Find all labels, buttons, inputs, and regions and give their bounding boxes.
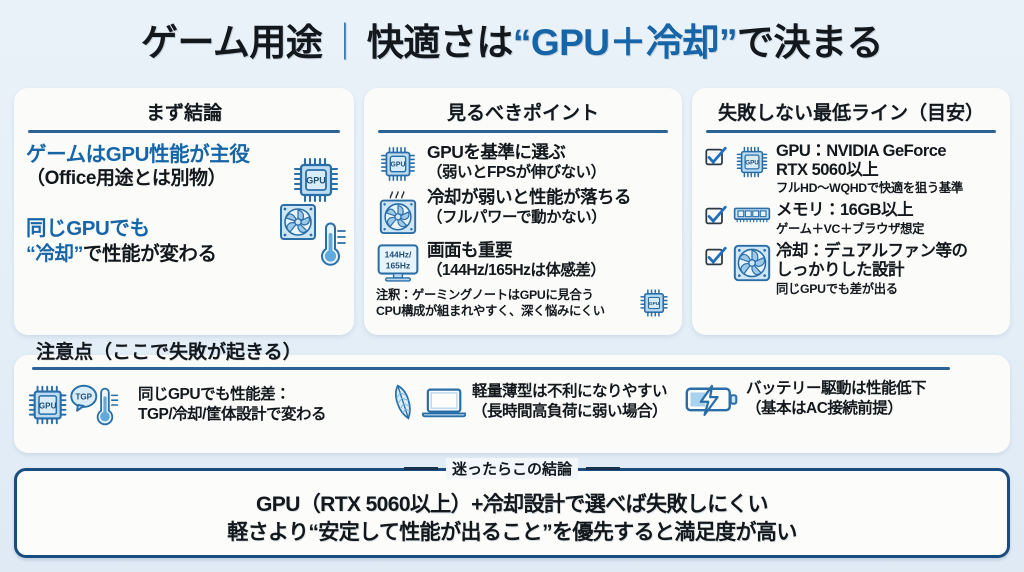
card1-line-2: （Office用途とは別物） — [26, 167, 278, 191]
monitor-label-line2: 165Hz — [386, 260, 410, 270]
divider — [706, 130, 996, 133]
card2-note-line-2: CPU構成が組まれやすく、深く悩みにくい — [376, 303, 630, 319]
key-point-sub: （弱いとFPSが伸びない） — [427, 163, 670, 182]
gpu-chip-icon: GPU — [638, 287, 670, 319]
conclusion-body: GPU（RTX 5060以上）+冷却設計で選べば失敗しにくい 軽さより“安定して… — [17, 491, 1007, 547]
key-point-main: 冷却が弱いと性能が落ちる — [427, 187, 670, 208]
caution-line-2: （基本はAC接続前提） — [746, 399, 926, 419]
page-title: ゲーム用途｜快適さは“GPU＋冷却”で決まる — [0, 12, 1024, 66]
card-conclusion-block-2: 同じGPUでも “冷却”で性能が変わる — [26, 216, 342, 266]
key-point-row: 144Hz/ 165Hz 画面も重要 （144Hz/165Hzは体感差） — [376, 240, 670, 284]
monitor-label-line1: 144Hz/ — [385, 249, 412, 259]
card1-line-4: “冷却”で性能が変わる — [26, 242, 278, 266]
monitor-refresh-icon: 144Hz/ 165Hz — [376, 240, 420, 284]
feather-laptop-icon — [384, 379, 466, 425]
caution-item: バッテリー駆動は性能低下 （基本はAC接続前提） — [684, 379, 984, 419]
requirement-text: メモリ：16GB以上 ゲーム＋VC＋ブラウザ想定 — [776, 201, 998, 237]
title-quote-open: “ — [513, 22, 531, 63]
requirement-row: 冷却：デュアルファン等の しっかりした設計 同じGPUでも差が出る — [704, 242, 998, 298]
requirement-main-1: 冷却：デュアルファン等の — [776, 242, 998, 261]
tab-dash-right — [586, 467, 620, 470]
infographic-root: ゲーム用途｜快適さは“GPU＋冷却”で決まる まず結論 ゲームはGPU性能が主役… — [0, 0, 1024, 572]
gpu-chip-icon: GPU — [376, 142, 420, 184]
card1-line4-quote-close: ” — [74, 243, 83, 265]
key-point-main: GPUを基準に選ぶ — [427, 142, 670, 163]
key-point-main: 画面も重要 — [427, 240, 670, 261]
caution-line-1: バッテリー駆動は性能低下 — [746, 379, 926, 399]
divider — [28, 130, 340, 133]
cards-row: まず結論 ゲームはGPU性能が主役 （Office用途とは別物） — [14, 88, 1010, 335]
conclusion-line-2: 軽さより“安定して性能が出ること”を優先すると満足度が高い — [17, 519, 1007, 547]
title-segment-1: ゲーム用途 — [141, 22, 322, 63]
card1-line4-quote-open: “ — [26, 243, 35, 265]
svg-text:GPU: GPU — [391, 161, 406, 168]
title-quote-close: ” — [719, 22, 737, 63]
requirement-sub: 同じGPUでも差が出る — [776, 282, 998, 298]
caution-item: 軽量薄型は不利になりやすい （長時間高負荷に弱い場合） — [384, 379, 684, 425]
conclusion-tab-label: 迷ったらこの結論 — [446, 458, 578, 479]
requirement-main-2: しっかりした設計 — [776, 261, 998, 280]
conclusion-line-1: GPU（RTX 5060以上）+冷却設計で選べば失敗しにくい — [17, 491, 1007, 519]
ram-stick-icon — [733, 201, 771, 227]
conclusion-tab: 迷ったらこの結論 — [17, 458, 1007, 479]
title-segment-2: 快適さは — [367, 22, 513, 63]
caution-item: GPU TGP 同じGPUでも性能差： TGP/冷却/筐体設計で変わる — [24, 379, 384, 431]
svg-text:GPU: GPU — [649, 301, 660, 307]
checked-checkbox-icon[interactable] — [704, 242, 728, 269]
caution-items: GPU TGP 同じGPUでも性能差： TGP/冷却/筐体設計で変わる — [24, 379, 1000, 431]
final-conclusion-box: 迷ったらこの結論 GPU（RTX 5060以上）+冷却設計で選べば失敗しにくい … — [14, 468, 1010, 558]
key-point-sub: （144Hz/165Hzは体感差） — [427, 261, 670, 280]
requirement-sub: ゲーム＋VC＋ブラウザ想定 — [776, 222, 998, 238]
title-segment-3: で決まる — [737, 22, 883, 63]
caution-item-text: バッテリー駆動は性能低下 （基本はAC接続前提） — [746, 379, 926, 419]
key-point-row: GPU GPUを基準に選ぶ （弱いとFPSが伸びない） — [376, 142, 670, 184]
card-minimum-line: 失敗しない最低ライン（目安） — [692, 88, 1010, 335]
key-point-text: 冷却が弱いと性能が落ちる （フルパワーで動かない） — [427, 187, 670, 227]
battery-charging-icon — [684, 380, 740, 418]
svg-text:GPU: GPU — [745, 159, 759, 166]
gpu-tgp-thermometer-icon: GPU TGP — [24, 379, 132, 431]
tab-dash-left — [404, 467, 438, 470]
svg-text:TGP: TGP — [75, 393, 92, 402]
card-minimum-line-heading: 失敗しない最低ライン（目安） — [704, 96, 998, 130]
caution-heading: 注意点（ここで失敗が起きる） — [36, 337, 302, 364]
card1-line-1: ゲームはGPU性能が主役 — [26, 142, 278, 167]
caution-line-1: 軽量薄型は不利になりやすい — [472, 382, 667, 402]
requirement-main-1: GPU：NVIDIA GeForce — [776, 142, 998, 161]
requirement-main-1: メモリ：16GB以上 — [776, 201, 998, 220]
divider — [32, 367, 950, 370]
card-conclusion-heading: まず結論 — [26, 96, 342, 130]
checked-checkbox-icon[interactable] — [704, 201, 728, 228]
title-divider: ｜ — [322, 22, 367, 63]
divider — [378, 130, 668, 133]
card2-note-line-1: 注釈：ゲーミングノートはGPUに見合う — [376, 287, 630, 303]
key-point-row: 冷却が弱いと性能が落ちる （フルパワーで動かない） — [376, 187, 670, 237]
caution-line-1: 同じGPUでも性能差： — [138, 385, 326, 405]
card-conclusion: まず結論 ゲームはGPU性能が主役 （Office用途とは別物） — [14, 88, 354, 335]
requirement-text: 冷却：デュアルファン等の しっかりした設計 同じGPUでも差が出る — [776, 242, 998, 298]
caution-section: 注意点（ここで失敗が起きる） GPU — [14, 355, 1010, 453]
card1-line4-rest: で性能が変わる — [83, 243, 217, 265]
thermometer-icon — [314, 220, 348, 268]
title-accent: GPU＋冷却 — [531, 22, 719, 63]
checked-checkbox-icon[interactable] — [704, 142, 728, 169]
card-conclusion-block-1: ゲームはGPU性能が主役 （Office用途とは別物） GPU — [26, 142, 342, 191]
gpu-chip-icon: GPU — [290, 154, 342, 206]
caution-item-text: 軽量薄型は不利になりやすい （長時間高負荷に弱い場合） — [472, 382, 667, 422]
card-key-points-heading: 見るべきポイント — [376, 96, 670, 130]
svg-text:GPU: GPU — [306, 175, 326, 185]
requirement-text: GPU：NVIDIA GeForce RTX 5060以上 フルHD〜WQHDで… — [776, 142, 998, 198]
card1-line-3: 同じGPUでも — [26, 216, 278, 242]
fan-icon — [278, 202, 318, 242]
caution-line-2: （長時間高負荷に弱い場合） — [472, 402, 667, 422]
card1-line4-accent: 冷却 — [35, 243, 73, 265]
key-point-text: GPUを基準に選ぶ （弱いとFPSが伸びない） — [427, 142, 670, 182]
case-fan-icon — [733, 242, 771, 282]
caution-item-text: 同じGPUでも性能差： TGP/冷却/筐体設計で変わる — [138, 385, 326, 425]
key-point-text: 画面も重要 （144Hz/165Hzは体感差） — [427, 240, 670, 280]
key-point-sub: （フルパワーで動かない） — [427, 208, 670, 227]
requirement-row: メモリ：16GB以上 ゲーム＋VC＋ブラウザ想定 — [704, 201, 998, 237]
requirement-sub: フルHD〜WQHDで快適を狙う基準 — [776, 181, 998, 197]
caution-line-2: TGP/冷却/筐体設計で変わる — [138, 405, 326, 425]
fan-heat-icon — [376, 187, 420, 237]
svg-text:GPU: GPU — [39, 401, 57, 410]
requirement-row: GPU GPU：NVIDIA GeForce RTX 5060以上 フルHD〜W… — [704, 142, 998, 198]
card2-note: 注釈：ゲーミングノートはGPUに見合う CPU構成が組まれやすく、深く悩みにくい… — [376, 287, 670, 320]
requirement-main-2: RTX 5060以上 — [776, 161, 998, 180]
gpu-chip-icon: GPU — [733, 142, 771, 180]
card-key-points: 見るべきポイント GPU — [364, 88, 682, 335]
